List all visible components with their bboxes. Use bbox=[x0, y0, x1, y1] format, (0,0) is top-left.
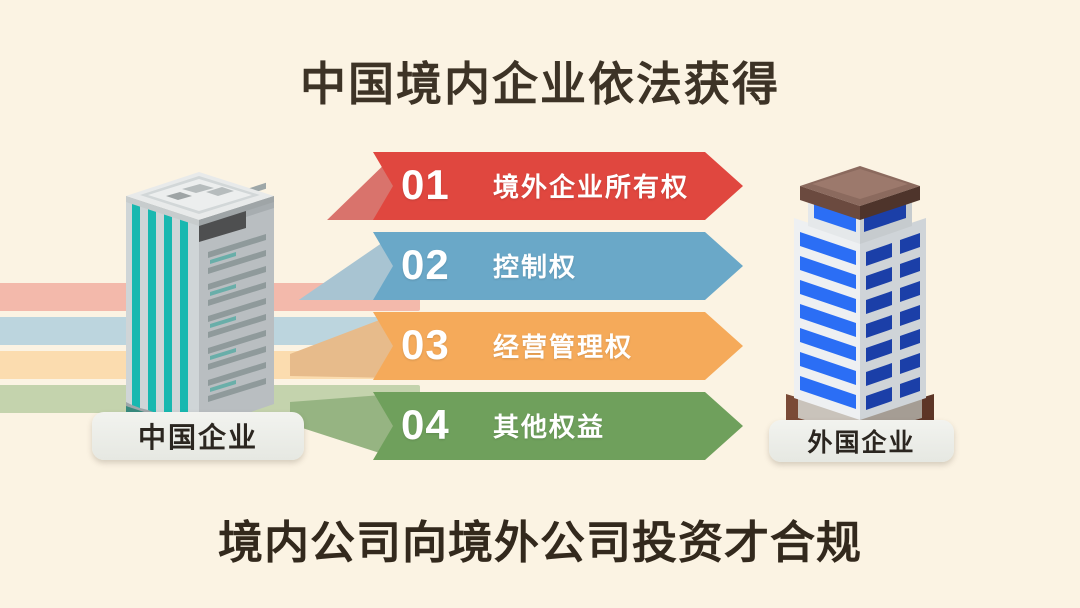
item-label-04: 其他权益 bbox=[493, 407, 605, 444]
china-building-icon bbox=[96, 168, 301, 443]
item-label-03: 经营管理权 bbox=[493, 327, 633, 364]
item-label-01: 境外企业所有权 bbox=[493, 167, 689, 204]
item-number-04: 04 bbox=[401, 401, 450, 449]
list-item[interactable]: 02 控制权 bbox=[373, 232, 743, 300]
item-number-03: 03 bbox=[401, 321, 450, 369]
foreign-building-icon bbox=[764, 158, 956, 448]
list-item[interactable]: 03 经营管理权 bbox=[373, 312, 743, 380]
list-item[interactable]: 04 其他权益 bbox=[373, 392, 743, 460]
item-number-01: 01 bbox=[401, 161, 450, 209]
list-item[interactable]: 01 境外企业所有权 bbox=[373, 152, 743, 220]
item-number-02: 02 bbox=[401, 241, 450, 289]
page-title: 中国境内企业依法获得 bbox=[0, 48, 1080, 114]
plate-text-right: 外国企业 bbox=[807, 423, 915, 459]
foreign-building-label: 外国企业 bbox=[769, 420, 954, 462]
page-caption: 境内公司向境外公司投资才合规 bbox=[0, 506, 1080, 571]
china-building-label: 中国企业 bbox=[92, 412, 304, 460]
item-label-02: 控制权 bbox=[493, 247, 577, 284]
plate-text-left: 中国企业 bbox=[138, 416, 258, 456]
slide-canvas: 中国境内企业依法获得 01 境外企业所有权 bbox=[0, 0, 1080, 608]
